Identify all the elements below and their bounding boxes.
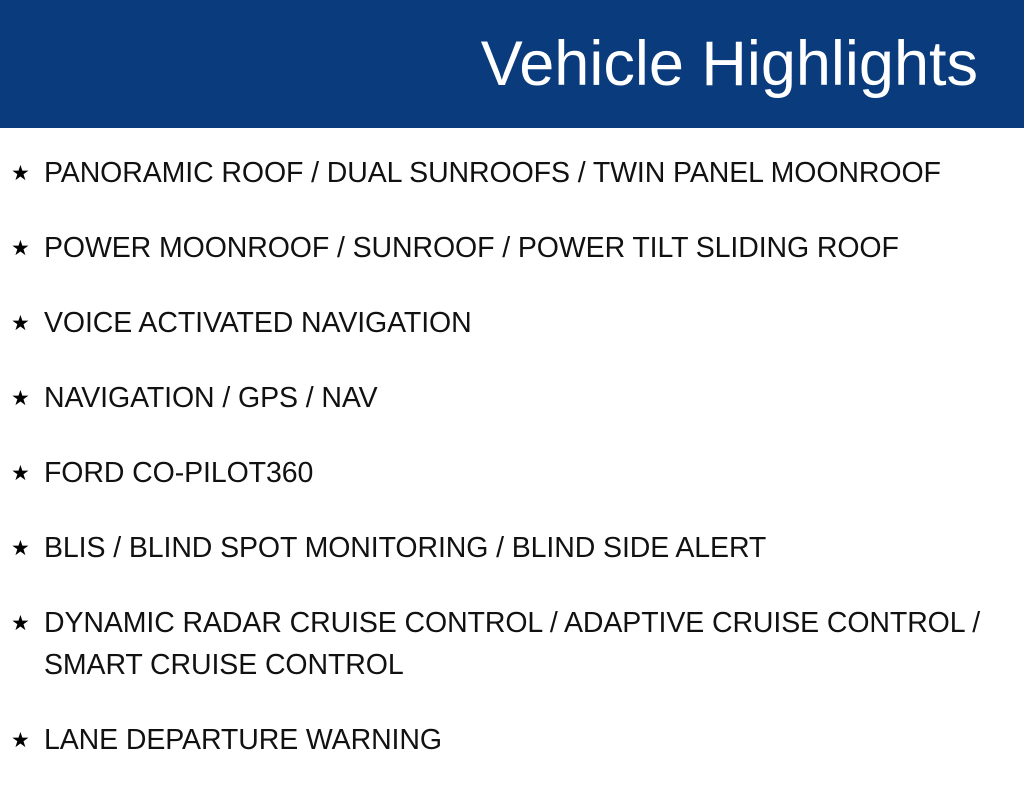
list-item: ★ NAVIGATION / GPS / NAV bbox=[0, 377, 1024, 419]
star-bullet-icon: ★ bbox=[11, 719, 33, 761]
list-item: ★ LANE DEPARTURE WARNING bbox=[0, 719, 1024, 761]
star-bullet-icon: ★ bbox=[11, 227, 33, 269]
star-bullet-icon: ★ bbox=[11, 152, 33, 194]
highlight-label: VOICE ACTIVATED NAVIGATION bbox=[44, 302, 1014, 344]
vehicle-highlights-slide: Vehicle Highlights ★ PANORAMIC ROOF / DU… bbox=[0, 0, 1024, 768]
star-bullet-icon: ★ bbox=[11, 302, 33, 344]
page-title: Vehicle Highlights bbox=[481, 28, 978, 100]
list-item: ★ VOICE ACTIVATED NAVIGATION bbox=[0, 302, 1024, 344]
highlight-label: NAVIGATION / GPS / NAV bbox=[44, 377, 1014, 419]
list-item: ★ FORD CO-PILOT360 bbox=[0, 452, 1024, 494]
list-item: ★ DYNAMIC RADAR CRUISE CONTROL / ADAPTIV… bbox=[0, 602, 1024, 686]
list-item: ★ PANORAMIC ROOF / DUAL SUNROOFS / TWIN … bbox=[0, 152, 1024, 194]
list-item: ★ BLIS / BLIND SPOT MONITORING / BLIND S… bbox=[0, 527, 1024, 569]
list-item: ★ POWER MOONROOF / SUNROOF / POWER TILT … bbox=[0, 227, 1024, 269]
highlight-label: DYNAMIC RADAR CRUISE CONTROL / ADAPTIVE … bbox=[44, 602, 1014, 686]
highlight-label: FORD CO-PILOT360 bbox=[44, 452, 1014, 494]
highlight-label: LANE DEPARTURE WARNING bbox=[44, 719, 1014, 761]
vehicle-highlights-list: ★ PANORAMIC ROOF / DUAL SUNROOFS / TWIN … bbox=[0, 128, 1024, 794]
star-bullet-icon: ★ bbox=[11, 452, 33, 494]
star-bullet-icon: ★ bbox=[11, 377, 33, 419]
highlight-label: POWER MOONROOF / SUNROOF / POWER TILT SL… bbox=[44, 227, 1014, 269]
highlight-label: BLIS / BLIND SPOT MONITORING / BLIND SID… bbox=[44, 527, 1014, 569]
header-band: Vehicle Highlights bbox=[0, 0, 1024, 128]
highlight-label: PANORAMIC ROOF / DUAL SUNROOFS / TWIN PA… bbox=[44, 152, 1014, 194]
star-bullet-icon: ★ bbox=[11, 602, 33, 644]
star-bullet-icon: ★ bbox=[11, 527, 33, 569]
